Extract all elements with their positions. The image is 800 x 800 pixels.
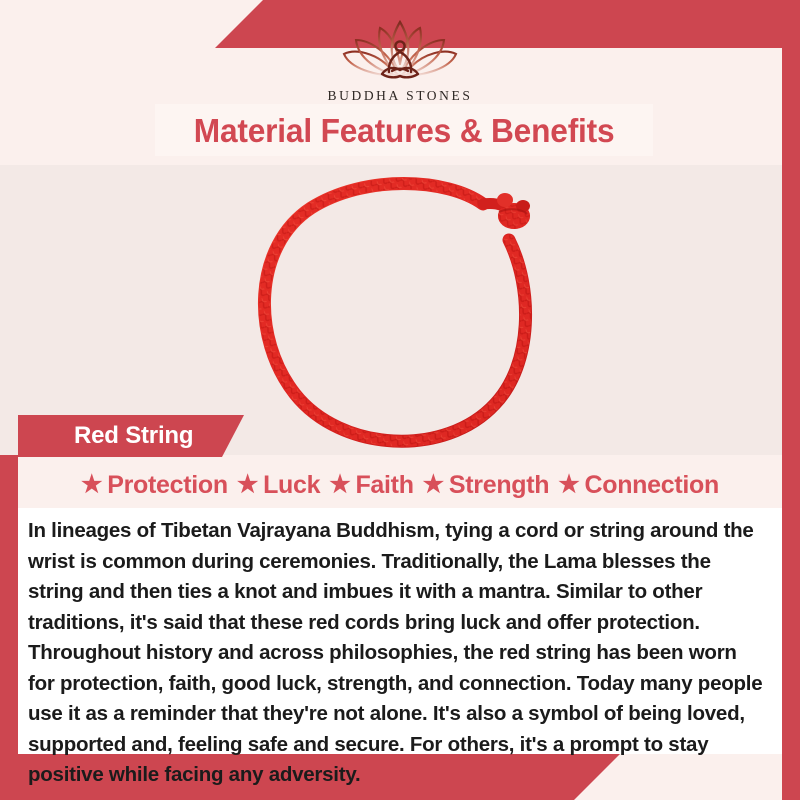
benefit-item-connection: ★ Connection xyxy=(558,471,719,500)
benefit-label: Strength xyxy=(449,471,549,500)
title-banner: Material Features & Benefits xyxy=(155,104,653,156)
benefit-label: Luck xyxy=(263,471,320,500)
benefit-item-luck: ★ Luck xyxy=(237,471,320,500)
red-string-bracelet-illustration xyxy=(233,168,563,468)
benefit-item-strength: ★ Strength xyxy=(423,471,550,500)
star-icon: ★ xyxy=(81,473,102,497)
lotus-meditation-icon xyxy=(334,14,466,86)
benefit-item-faith: ★ Faith xyxy=(329,471,413,500)
product-label: Red String xyxy=(18,422,193,450)
frame-right-bar xyxy=(782,0,800,800)
star-icon: ★ xyxy=(329,473,350,497)
brand-logo: BUDDHA STONES xyxy=(0,14,800,104)
benefit-label: Protection xyxy=(107,471,228,500)
infographic-page: BUDDHA STONES Material Features & Benefi… xyxy=(0,0,800,800)
benefit-label: Connection xyxy=(584,471,719,500)
product-label-ribbon: Red String xyxy=(18,415,244,457)
star-icon: ★ xyxy=(558,473,579,497)
product-image-panel xyxy=(0,165,782,455)
brand-name: BUDDHA STONES xyxy=(0,88,800,104)
benefit-label: Faith xyxy=(355,471,413,500)
page-title: Material Features & Benefits xyxy=(194,114,615,147)
benefits-list: ★ Protection ★ Luck ★ Faith ★ Strength ★… xyxy=(18,466,782,504)
description-panel: In lineages of Tibetan Vajrayana Buddhis… xyxy=(18,508,782,754)
benefit-item-protection: ★ Protection xyxy=(81,471,228,500)
star-icon: ★ xyxy=(423,473,444,497)
description-text: In lineages of Tibetan Vajrayana Buddhis… xyxy=(28,516,768,791)
star-icon: ★ xyxy=(237,473,258,497)
